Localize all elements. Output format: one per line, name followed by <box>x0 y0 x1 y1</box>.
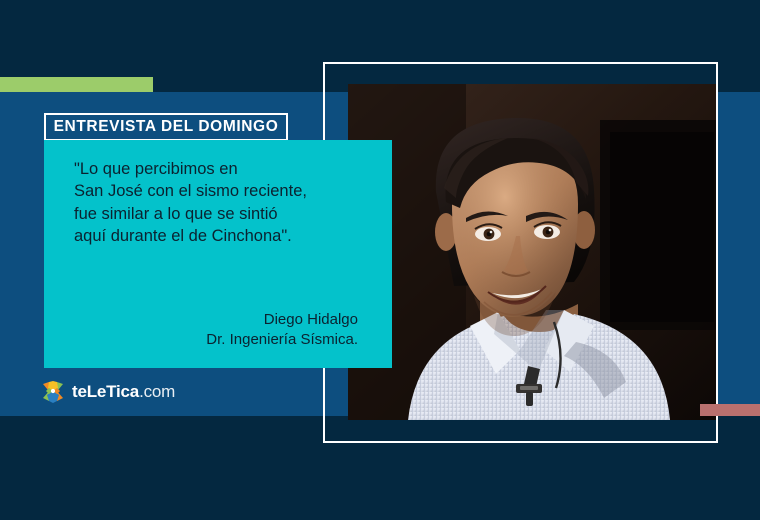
teletica-wordmark-suffix: .com <box>139 382 175 401</box>
speaker-attribution: Diego Hidalgo Dr. Ingeniería Sísmica. <box>74 310 370 356</box>
salmon-accent-bar <box>700 404 760 416</box>
teletica-x-icon <box>40 379 66 405</box>
teletica-wordmark-main: teLeTica <box>72 382 139 401</box>
teletica-wordmark: teLeTica.com <box>72 382 175 402</box>
green-accent-bar <box>0 77 153 92</box>
quote-card: "Lo que percibimos en San José con el si… <box>44 140 392 368</box>
broadcast-lower-third-graphic: ENTREVISTA DEL DOMINGO "Lo que percibimo… <box>0 0 760 520</box>
speaker-name: Diego Hidalgo <box>74 310 358 330</box>
program-kicker-label: ENTREVISTA DEL DOMINGO <box>54 118 279 136</box>
quote-text: "Lo que percibimos en San José con el si… <box>74 158 370 248</box>
teletica-logo: teLeTica.com <box>40 379 175 405</box>
speaker-title: Dr. Ingeniería Sísmica. <box>74 330 358 350</box>
program-kicker-box: ENTREVISTA DEL DOMINGO <box>44 113 288 141</box>
background-blue-far-right-panel <box>718 92 760 416</box>
